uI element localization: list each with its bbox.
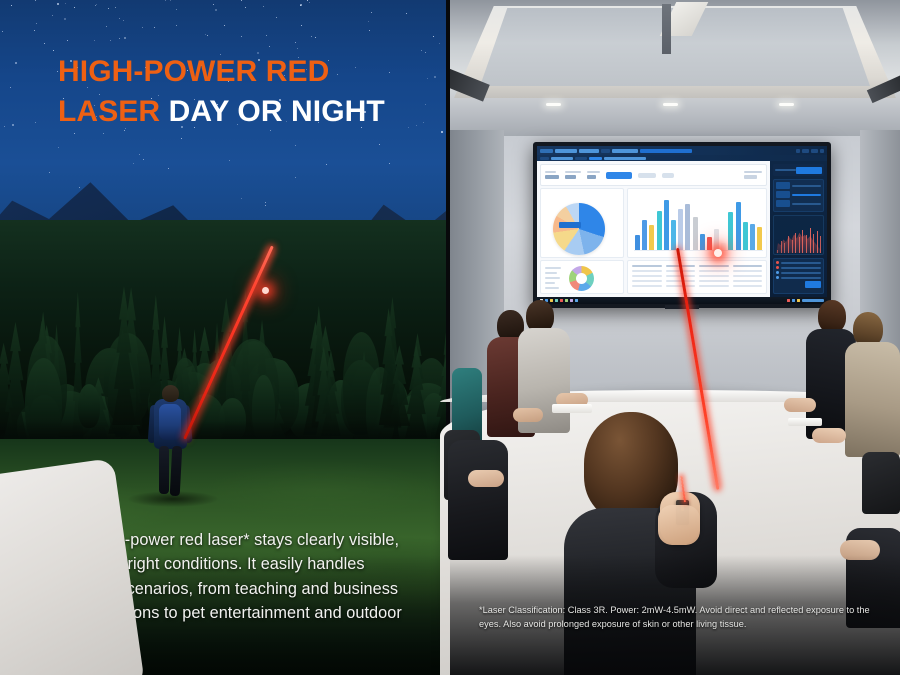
star [74,7,75,8]
star [142,27,143,28]
star [165,0,166,1]
hiker-backpack [159,404,181,440]
spike-12 [817,231,818,253]
headline-line-2-rest: DAY OR NIGHT [160,95,385,128]
star [295,42,296,43]
star [96,4,97,5]
star [64,18,66,20]
star [143,159,144,160]
star [265,202,266,203]
star [57,3,59,5]
bar-16 [743,222,748,251]
star [10,87,11,88]
bar-5 [664,200,669,250]
star [52,15,53,16]
titlebar-icon-3[interactable] [811,149,818,153]
spike-2 [781,241,782,253]
breadcrumb-item-2[interactable] [575,157,587,160]
star [119,18,120,19]
sidebar-list-card[interactable] [773,258,824,294]
table-row [632,280,762,282]
breadcrumb-tab-active[interactable] [589,157,602,160]
attendee-hands-left-3 [468,470,504,487]
breadcrumb-item-1[interactable] [551,157,573,160]
sidebar-filter-2[interactable] [776,191,790,198]
star [441,131,443,133]
titlebar-chip-nav-3[interactable] [601,149,610,153]
sidebar-header [773,164,824,176]
star [295,177,296,178]
star [170,0,171,1]
hiker-leg-left [159,446,169,494]
pie-chart-label [559,222,581,228]
bar-18 [757,227,762,250]
star [326,164,327,165]
star [176,25,177,26]
star [269,46,270,47]
star [139,154,140,155]
star [119,38,120,39]
attendee-torso [448,440,508,560]
star [311,36,312,37]
star [65,3,66,4]
star [106,26,107,27]
spike-7 [799,237,800,253]
spike-6 [795,233,796,253]
stat-metric-1 [545,171,559,179]
taskbar-tray-icon-2[interactable] [792,299,795,302]
star [215,9,217,11]
bar-1 [635,235,640,250]
star [176,9,177,10]
bar-chart-x-axis [634,250,763,251]
pie-chart-card[interactable] [540,188,624,258]
spike-1 [777,250,778,253]
star [301,25,302,26]
dashboard-bar-chart [635,193,762,250]
star [207,35,208,36]
star [224,25,225,26]
star [12,124,14,126]
headline-line-1: HIGH-POWER RED [58,52,428,92]
spike-11 [813,234,814,253]
star [44,43,45,44]
breadcrumb-item-3[interactable] [604,157,646,160]
star [265,205,266,206]
star [433,36,434,37]
star [241,0,242,1]
star [369,30,370,31]
sidebar-filter-1[interactable] [776,182,790,189]
titlebar-chip-nav-4[interactable] [612,149,638,153]
spike-3 [784,243,785,253]
stat-metric-4 [744,171,762,179]
bar-15 [736,202,741,250]
list-status-dot [776,261,779,264]
pine-treeline [0,220,446,450]
bar-3 [649,225,654,250]
stat-metric-2 [565,171,581,179]
attendee-hands-right-3 [840,540,880,560]
dashboard-bottom-row [540,260,767,294]
bar-12 [714,229,719,250]
star [371,12,372,13]
star [300,4,302,6]
star [368,21,369,22]
bar-17 [750,224,755,250]
headline-line-2-accent: LASER [58,95,160,128]
star [2,31,3,32]
titlebar-chip-nav-1[interactable] [555,149,577,153]
spike-10 [810,228,811,253]
star [53,50,54,51]
star [15,62,17,64]
dashboard-stats-row [540,164,767,186]
donut-chart-card[interactable] [540,260,624,294]
hiker-head [162,385,179,402]
star [295,145,296,146]
dashboard-sidebar [770,161,827,297]
dashboard-titlebar[interactable] [537,146,827,155]
star [213,4,214,5]
breadcrumb-icon[interactable] [540,157,549,160]
sidebar-list-action[interactable] [805,281,821,288]
star [123,20,124,21]
hiker-leg-right [170,446,183,496]
list-status-dot [776,271,779,274]
star [245,7,246,8]
bar-10 [700,234,705,250]
pendant-light-bar [662,4,671,54]
bar-4 [657,211,662,250]
star [115,7,116,8]
titlebar-chip-nav-2[interactable] [579,149,599,153]
stat-metric-3 [587,171,600,179]
sidebar-filters-card[interactable] [773,179,824,212]
bar-7 [678,209,683,250]
titlebar-search-field[interactable] [640,149,692,153]
spike-8 [802,230,803,253]
table-row [632,275,762,277]
star [389,163,390,164]
star [67,40,68,41]
star [241,36,242,37]
star [34,30,35,31]
dashboard-sidebar-area-chart [773,215,824,255]
dashboard-pie-chart [553,203,605,255]
table-header-row [632,265,762,267]
titlebar-chip-menu[interactable] [540,149,553,153]
laser-dot-left [262,287,269,294]
star [11,5,12,6]
star [229,160,230,161]
spike-4 [788,236,789,253]
star [309,2,310,3]
hiker-figure [148,385,194,497]
attendee-hands-right-1 [784,398,816,412]
stats-primary-button[interactable] [606,172,632,179]
bar-13 [721,243,726,250]
bar-2 [642,220,647,250]
star [58,147,59,148]
star [74,133,75,134]
star [181,138,182,139]
dashboard-main-column [537,161,770,297]
list-status-dot [776,266,779,269]
star [379,144,380,145]
bar-6 [671,220,676,250]
star [154,27,155,28]
presenter-fingers [658,505,700,545]
downlight-3 [779,103,794,106]
table-row [632,270,762,272]
spike-9 [806,235,807,253]
ad-composite: HIGH-POWER RED LASER DAY OR NIGHT The hi… [0,0,900,675]
notepad-right [788,418,822,426]
bar-14 [728,212,733,250]
star [124,37,126,39]
bar-chart-card[interactable] [627,188,767,258]
taskbar-icon-7[interactable] [575,299,578,302]
dashboard-donut-chart [569,266,594,291]
downlight-2 [663,103,678,106]
star [110,40,111,41]
attendee-left-3 [448,440,508,560]
star [439,43,440,44]
stats-secondary-button[interactable] [638,173,656,178]
star [406,13,407,14]
donut-legend-list [545,267,565,289]
taskbar-tray-icon-3[interactable] [797,299,800,302]
star [35,0,36,1]
star [266,35,267,36]
star [103,133,104,134]
laser-dot-on-screen [714,249,722,257]
star [35,122,36,123]
spike-13 [820,236,821,253]
laser-classification-disclaimer: *Laser Classification: Class 3R. Power: … [479,604,889,632]
attendee-hands-right-2 [812,428,846,443]
star [241,198,242,199]
titlebar-icon-4[interactable] [820,149,824,153]
attendee-torso [845,342,900,457]
sidebar-primary-button[interactable] [796,167,822,174]
star [276,17,277,18]
sidebar-filter-3[interactable] [776,200,790,207]
stats-tertiary-button[interactable] [662,173,674,178]
star [168,168,169,169]
star [79,187,80,188]
taskbar-tray-icon-1[interactable] [787,299,790,302]
list-status-dot [776,276,779,279]
bar-11 [707,237,712,250]
star [49,172,50,173]
star [434,76,436,78]
star [133,163,134,164]
spike-5 [792,240,793,253]
titlebar-icon-1[interactable] [796,149,800,153]
attendee-right-2 [845,312,900,457]
star [297,48,298,49]
titlebar-icon-2[interactable] [802,149,809,153]
table-row [632,285,762,287]
taskbar-icon-6[interactable] [570,299,573,302]
star [315,37,316,38]
data-table-card[interactable] [627,260,767,294]
star [94,40,95,41]
chair-right-1 [862,452,900,514]
dashboard-chart-row [540,188,767,258]
star [307,0,308,1]
downlight-1 [546,103,561,106]
bar-8 [685,204,690,250]
star [4,126,5,127]
star [263,6,264,7]
bar-9 [693,217,698,250]
star [36,23,37,24]
attendee-hands-left-1 [513,408,543,422]
star [205,34,206,35]
headline: HIGH-POWER RED LASER DAY OR NIGHT [58,52,428,131]
star [108,8,109,9]
